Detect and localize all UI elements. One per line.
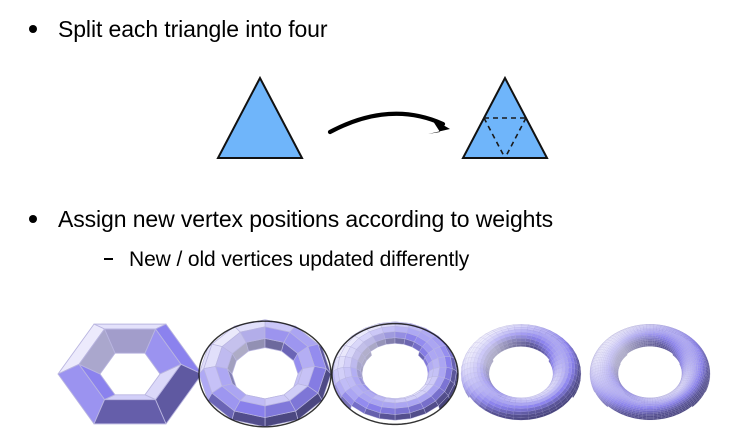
torus-face: [645, 341, 647, 343]
torus-face: [647, 336, 650, 338]
torus-face: [653, 334, 656, 336]
torus-level-3: [449, 296, 593, 444]
torus-face: [647, 329, 650, 330]
torus-face: [516, 335, 521, 338]
torus-face: [652, 337, 655, 339]
torus-face: [698, 368, 700, 371]
torus-face: [599, 368, 601, 371]
torus-face: [652, 344, 654, 346]
torus-face: [647, 328, 650, 329]
torus-level-2: [320, 296, 470, 444]
torus-face: [521, 401, 527, 404]
torus-face: [516, 338, 521, 341]
torus-face: [650, 400, 653, 401]
torus-face: [650, 332, 653, 334]
torus-face: [647, 337, 650, 339]
torus-face: [650, 339, 652, 341]
bullet-dot-icon: [29, 215, 37, 223]
torus-face: [694, 365, 696, 367]
torus-face: [513, 415, 521, 418]
torus-face: [647, 400, 650, 401]
curved-arrow-icon: [330, 114, 450, 134]
torus-face: [467, 363, 470, 369]
torus-face: [648, 344, 650, 345]
torus-face: [691, 366, 693, 368]
torus-face: [646, 419, 650, 420]
torus-face: [650, 336, 653, 338]
torus-face: [691, 368, 693, 370]
torus-face: [648, 339, 650, 341]
torus-face: [608, 368, 610, 370]
torus-face: [608, 366, 610, 368]
bullet-dot-icon: [29, 25, 37, 33]
torus-face: [650, 417, 654, 419]
torus-face: [521, 403, 527, 406]
torus-face: [650, 402, 653, 403]
torus-face: [645, 337, 648, 339]
torus-face: [395, 407, 410, 415]
torus-face: [602, 365, 604, 368]
torus-face: [650, 403, 653, 404]
bullet-item-split-triangle: Split each triangle into four: [29, 16, 327, 43]
torus-face: [647, 403, 650, 404]
torus-face: [650, 400, 653, 401]
torus-face: [647, 334, 650, 336]
torus-face: [646, 412, 650, 414]
torus-face: [597, 365, 599, 368]
torus-face: [646, 416, 650, 418]
torus-face: [514, 408, 521, 411]
torus-face: [643, 409, 647, 411]
torus-face: [644, 334, 647, 336]
torus-face: [650, 416, 654, 418]
torus-face: [650, 345, 652, 346]
torus-face: [572, 368, 575, 374]
torus-face: [694, 363, 696, 366]
torus-face: [609, 368, 611, 370]
bullet-item-assign-vertex: Assign new vertex positions according to…: [29, 206, 553, 233]
torus-face: [648, 341, 650, 343]
torus-face: [467, 368, 470, 374]
torus-level-4: [578, 296, 722, 444]
torus-face: [653, 336, 656, 338]
torus-face: [650, 327, 653, 328]
torus-face: [521, 408, 528, 411]
torus-face: [514, 405, 521, 408]
torus-face: [515, 401, 521, 404]
torus-face: [657, 408, 661, 410]
torus-face: [521, 338, 526, 341]
torus-face: [693, 360, 695, 363]
torus-face: [689, 368, 691, 370]
torus-face: [521, 327, 528, 330]
torus-face: [521, 411, 528, 414]
torus-face: [647, 406, 650, 408]
bullet-dash-icon: [104, 258, 113, 260]
torus-face: [650, 328, 653, 329]
torus-face: [647, 327, 650, 328]
torus-face: [647, 331, 650, 333]
torus-face: [692, 368, 694, 370]
torus-face: [480, 368, 483, 373]
torus-face: [568, 368, 572, 374]
torus-face: [604, 360, 606, 363]
torus-face: [696, 368, 698, 371]
torus-face: [652, 341, 654, 343]
torus-face: [655, 336, 658, 338]
torus-face: [470, 363, 474, 368]
torus-face: [559, 368, 562, 373]
torus-face: [470, 368, 474, 374]
torus-face: [692, 365, 694, 367]
torus-face: [604, 363, 606, 366]
bullet-text-assign-vertex: Assign new vertex positions according to…: [58, 206, 553, 233]
torus-face: [395, 332, 407, 339]
torus-face: [383, 332, 395, 339]
torus-face: [562, 368, 566, 373]
torus-face: [521, 344, 525, 347]
torus-face: [645, 339, 648, 341]
torus-face: [652, 339, 655, 341]
torus-face: [516, 341, 521, 344]
torus-face: [650, 342, 652, 344]
torus-face: [602, 368, 604, 371]
torus-face: [650, 404, 653, 406]
torus-face: [642, 336, 645, 338]
torus-face: [700, 365, 702, 368]
torus-face: [604, 365, 606, 367]
torus-face: [650, 407, 653, 409]
torus-face: [572, 363, 575, 369]
torus-face: [600, 365, 602, 368]
torus-face: [650, 414, 654, 416]
torus-subdivision-sequence: [0, 296, 753, 444]
torus-face: [565, 368, 569, 373]
torus-face: [604, 368, 606, 370]
torus-face: [473, 368, 477, 373]
torus-face: [380, 407, 395, 415]
triangle-subdivision-diagram: [200, 62, 580, 172]
torus-face: [514, 327, 521, 330]
plain-triangle: [218, 78, 302, 158]
torus-face: [648, 342, 650, 344]
bullet-item-new-old-vertices: New / old vertices updated differently: [104, 246, 469, 273]
torus-face: [477, 363, 481, 368]
torus-face: [646, 417, 650, 419]
torus-face: [650, 331, 653, 333]
torus-face: [650, 344, 652, 345]
torus-face: [695, 372, 697, 375]
torus-face: [648, 345, 650, 346]
torus-face: [696, 370, 698, 373]
torus-face: [477, 368, 481, 373]
torus-face: [606, 365, 608, 367]
torus-face: [646, 414, 650, 416]
torus-face: [647, 407, 650, 409]
torus-face: [653, 409, 657, 411]
bullet-text-split-triangle: Split each triangle into four: [58, 16, 327, 43]
torus-face: [568, 363, 572, 368]
torus-face: [515, 403, 521, 406]
torus-face: [473, 363, 477, 368]
torus-face: [646, 344, 648, 346]
torus-face: [646, 411, 650, 413]
torus-face: [645, 336, 648, 338]
torus-face: [94, 324, 166, 329]
torus-face: [650, 337, 653, 339]
torus-face: [606, 368, 608, 370]
torus-face: [515, 332, 521, 335]
torus-face: [694, 368, 696, 370]
torus-face: [521, 415, 529, 418]
torus-face: [565, 363, 569, 368]
torus-face: [562, 363, 566, 368]
torus-face: [647, 409, 650, 411]
torus-face: [701, 365, 703, 368]
torus-face: [517, 344, 521, 347]
torus-face: [652, 342, 654, 344]
torus-face: [645, 342, 647, 344]
torus-face: [650, 419, 654, 420]
torus-face: [650, 412, 654, 414]
torus-face: [696, 365, 698, 368]
torus-face: [600, 368, 602, 371]
torus-face: [599, 365, 601, 368]
torus-face: [521, 341, 526, 344]
torus-face: [521, 335, 526, 338]
torus-face: [602, 370, 604, 373]
torus-face: [650, 334, 653, 336]
torus-face: [650, 341, 652, 343]
torus-face: [647, 404, 650, 406]
torus-face: [700, 368, 702, 371]
torus-face: [650, 409, 653, 411]
torus-face: [514, 411, 521, 414]
torus-face: [698, 365, 700, 368]
torus-face: [521, 405, 528, 408]
torus-face: [640, 408, 644, 410]
torus-face: [650, 406, 653, 408]
bullet-text-new-old-vertices: New / old vertices updated differently: [129, 246, 469, 273]
torus-face: [647, 400, 650, 401]
torus-face: [650, 329, 653, 330]
torus-face: [521, 332, 527, 335]
torus-face: [650, 411, 654, 413]
torus-face: [647, 332, 650, 334]
torus-face: [521, 329, 527, 332]
torus-face: [515, 329, 521, 332]
torus-face: [94, 400, 166, 424]
torus-face: [603, 372, 605, 375]
subdivided-triangle: [463, 78, 547, 158]
torus-face: [647, 402, 650, 403]
